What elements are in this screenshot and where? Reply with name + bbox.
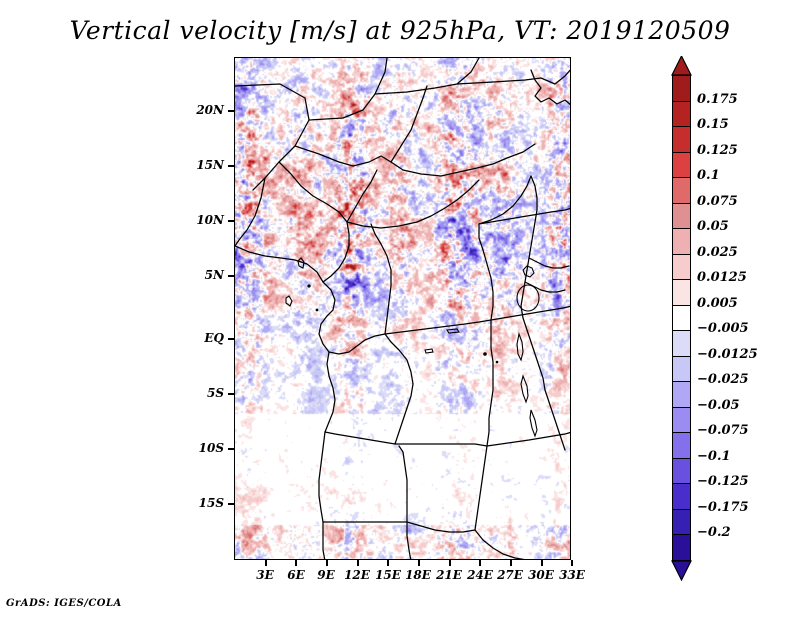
colorbar-swatch (672, 126, 691, 153)
x-tick-mark (295, 560, 297, 566)
colorbar-tick-label: 0.025 (697, 245, 738, 260)
x-tick-mark (479, 560, 481, 566)
y-axis-label-15N: 15N (184, 158, 224, 172)
map-plot-area: 20N 15N 10N 5N EQ 5S 10S 15S 3E 6E 9E 12… (234, 57, 571, 560)
colorbar-tick-label: 0.005 (697, 296, 738, 311)
colorbar-max-arrow (671, 56, 692, 76)
colorbar-swatch (672, 534, 691, 561)
y-tick-mark (228, 165, 234, 167)
colorbar-swatch (672, 330, 691, 357)
page-title: Vertical velocity [m/s] at 925hPa, VT: 2… (0, 16, 800, 45)
colorbar-tick-label: −0.125 (697, 474, 749, 489)
y-axis-label-5S: 5S (184, 386, 224, 400)
colorbar-swatch (672, 407, 691, 434)
y-tick-mark (228, 448, 234, 450)
colorbar-tick-label: 0.075 (697, 194, 738, 209)
y-tick-mark (228, 220, 234, 222)
y-axis-label-5N: 5N (184, 268, 224, 282)
colorbar-tick-label: 0.125 (697, 143, 738, 158)
y-axis-label-10N: 10N (184, 213, 224, 227)
colorbar-swatch (672, 152, 691, 179)
grads-attribution: GrADS: IGES/COLA (6, 598, 122, 609)
colorbar-tick-label: −0.2 (697, 525, 731, 540)
colorbar-tick-label: 0.175 (697, 92, 738, 107)
y-axis-label-20N: 20N (184, 103, 224, 117)
colorbar-tick-label: 0.0125 (697, 270, 747, 285)
colorbar-swatch (672, 101, 691, 128)
y-tick-mark (228, 110, 234, 112)
y-tick-mark (228, 393, 234, 395)
colorbar-tick-label: −0.1 (697, 449, 731, 464)
colorbar-swatch (672, 177, 691, 204)
colorbar-swatch (672, 254, 691, 281)
colorbar-swatch (672, 509, 691, 536)
y-tick-mark (228, 275, 234, 277)
colorbar-swatch (672, 356, 691, 383)
x-tick-mark (357, 560, 359, 566)
colorbar-swatch (672, 228, 691, 255)
colorbar-tick-label: −0.05 (697, 398, 740, 413)
colorbar-swatch (672, 381, 691, 408)
y-tick-mark (228, 338, 234, 340)
colorbar-tick-label: −0.075 (697, 423, 749, 438)
colorbar-tick-label: 0.1 (697, 168, 720, 183)
y-axis-label-15S: 15S (184, 496, 224, 510)
colorbar-swatch (672, 458, 691, 485)
x-axis-label-33E: 33E (552, 568, 592, 582)
colorbar-swatch (672, 75, 691, 102)
colorbar-min-arrow (671, 560, 692, 581)
colorbar-tick-label: −0.175 (697, 500, 749, 515)
x-tick-mark (571, 560, 573, 566)
x-tick-mark (449, 560, 451, 566)
colorbar-tick-label: 0.15 (697, 117, 729, 132)
colorbar-swatch (672, 483, 691, 510)
x-tick-mark (418, 560, 420, 566)
x-tick-mark (326, 560, 328, 566)
colorbar-swatch (672, 305, 691, 332)
colorbar-swatch (672, 203, 691, 230)
x-tick-mark (541, 560, 543, 566)
colorbar: 0.1750.150.1250.10.0750.050.0250.01250.0… (672, 57, 792, 562)
colorbar-tick-label: −0.005 (697, 321, 749, 336)
y-tick-mark (228, 503, 234, 505)
y-axis-label-EQ: EQ (184, 331, 224, 345)
colorbar-swatch (672, 432, 691, 459)
colorbar-tick-label: −0.025 (697, 372, 749, 387)
x-tick-mark (265, 560, 267, 566)
map-frame (234, 57, 571, 560)
country-borders-overlay (235, 58, 571, 560)
x-tick-mark (387, 560, 389, 566)
colorbar-tick-label: 0.05 (697, 219, 729, 234)
y-axis-label-10S: 10S (184, 441, 224, 455)
x-tick-mark (510, 560, 512, 566)
colorbar-tick-label: −0.0125 (697, 347, 758, 362)
colorbar-swatch (672, 279, 691, 306)
